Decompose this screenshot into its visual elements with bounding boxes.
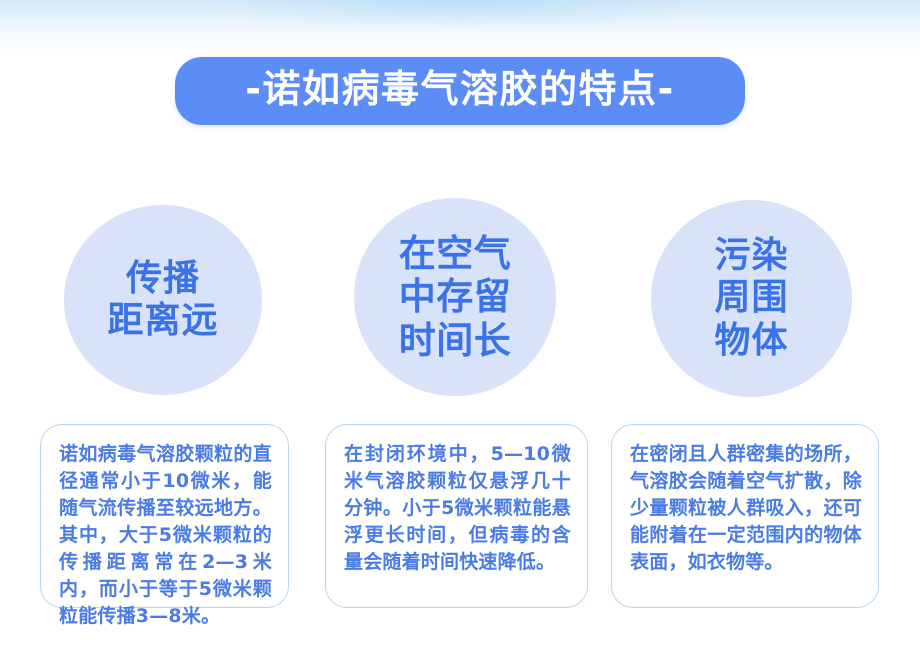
feature-circle-spread-distance: 传播 距离远 xyxy=(64,205,262,395)
feature-circle-line: 传播 xyxy=(126,258,200,300)
title-pill: -诺如病毒气溶胶的特点- xyxy=(175,57,745,125)
feature-card-spread-distance: 诺如病毒气溶胶颗粒的直径通常小于10微米，能随气流传播至较远地方。其中，大于5微… xyxy=(40,424,289,608)
page-title: -诺如病毒气溶胶的特点- xyxy=(209,68,711,111)
feature-card-surface-contamination: 在密闭且人群密集的场所，气溶胶会随着空气扩散，除少量颗粒被人群吸入，还可能附着在… xyxy=(611,424,879,608)
feature-circle-line: 距离远 xyxy=(107,300,218,342)
feature-card-text: 在密闭且人群密集的场所，气溶胶会随着空气扩散，除少量颗粒被人群吸入，还可能附着在… xyxy=(630,441,862,576)
feature-circle-line: 中存留 xyxy=(399,275,512,319)
feature-circle-line: 周围 xyxy=(714,277,788,319)
feature-circle-line: 污染 xyxy=(714,235,788,277)
feature-circle-surface-contamination: 污染 周围 物体 xyxy=(651,200,852,397)
feature-circle-line: 在空气 xyxy=(399,232,512,276)
feature-card-text: 在封闭环境中，5—10微米气溶胶颗粒仅悬浮几十分钟。小于5微米颗粒能悬浮更长时间… xyxy=(344,441,571,576)
title-container: -诺如病毒气溶胶的特点- xyxy=(0,57,920,125)
top-gradient-decoration xyxy=(0,0,920,52)
feature-card-airborne-duration: 在封闭环境中，5—10微米气溶胶颗粒仅悬浮几十分钟。小于5微米颗粒能悬浮更长时间… xyxy=(325,424,588,608)
feature-cards-row: 诺如病毒气溶胶颗粒的直径通常小于10微米，能随气流传播至较远地方。其中，大于5微… xyxy=(0,424,920,614)
feature-card-text: 诺如病毒气溶胶颗粒的直径通常小于10微米，能随气流传播至较远地方。其中，大于5微… xyxy=(59,441,272,630)
feature-circles-row: 传播 距离远 在空气 中存留 时间长 污染 周围 物体 xyxy=(0,198,920,398)
feature-circle-airborne-duration: 在空气 中存留 时间长 xyxy=(354,198,556,396)
feature-circle-line: 物体 xyxy=(714,320,788,362)
feature-circle-line: 时间长 xyxy=(399,319,512,363)
